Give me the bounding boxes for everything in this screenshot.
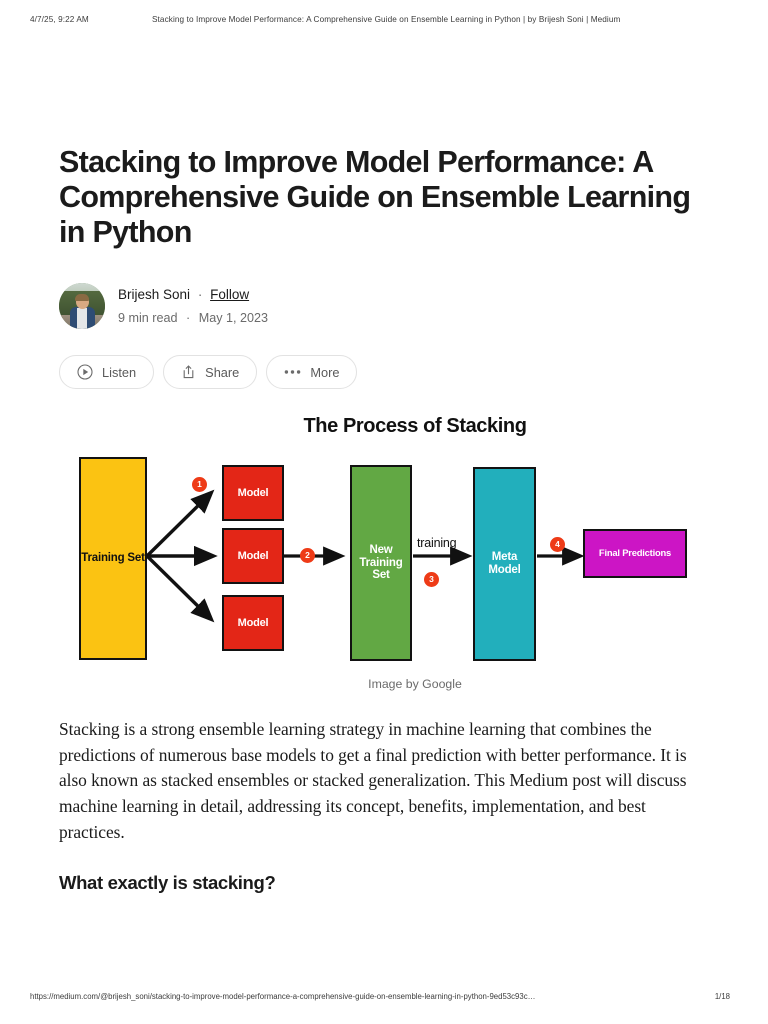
badge-2-label: 2	[305, 551, 310, 560]
badge-2: 2	[300, 548, 315, 563]
badge-3: 3	[424, 572, 439, 587]
node-model-3-label: Model	[238, 617, 269, 629]
print-header-date: 4/7/25, 9:22 AM	[30, 15, 89, 24]
badge-4: 4	[550, 537, 565, 552]
edge-label-training: training	[417, 536, 456, 550]
figure-title: The Process of Stacking	[121, 415, 709, 438]
node-final-predictions: Final Predictions	[583, 529, 687, 578]
stacking-diagram: Training Set Model Model Model New Train…	[59, 449, 709, 667]
byline-separator-2: ·	[186, 311, 190, 325]
page-title: Stacking to Improve Model Performance: A…	[59, 145, 699, 250]
badge-1-label: 1	[197, 480, 202, 489]
read-time: 9 min read	[118, 311, 178, 325]
byline-separator-1: ·	[198, 287, 203, 302]
article-paragraph: Stacking is a strong ensemble learning s…	[59, 717, 704, 846]
listen-button[interactable]: Listen	[59, 355, 154, 389]
avatar-hair	[75, 294, 89, 301]
more-label: More	[310, 365, 339, 380]
byline-author-row: Brijesh Soni · Follow	[118, 285, 268, 305]
share-label: Share	[205, 365, 239, 380]
byline-text: Brijesh Soni · Follow 9 min read · May 1…	[118, 285, 268, 327]
node-meta-model: Meta Model	[473, 467, 536, 661]
more-button[interactable]: More	[266, 355, 357, 389]
node-model-3: Model	[222, 595, 284, 651]
share-upload-icon	[181, 364, 196, 380]
node-new-training-set-label: New Training Set	[352, 544, 410, 583]
ellipsis-icon	[284, 369, 301, 375]
follow-button[interactable]: Follow	[210, 287, 249, 302]
author-name[interactable]: Brijesh Soni	[118, 287, 190, 302]
badge-3-label: 3	[429, 575, 434, 584]
print-header: 4/7/25, 9:22 AM Stacking to Improve Mode…	[0, 15, 768, 31]
node-meta-model-label: Meta Model	[475, 551, 534, 577]
print-footer-page: 1/18	[715, 992, 730, 1001]
badge-4-label: 4	[555, 540, 560, 549]
publish-date: May 1, 2023	[199, 311, 268, 325]
node-model-2-label: Model	[238, 550, 269, 562]
article-figure: The Process of Stacking	[59, 415, 709, 691]
node-model-2: Model	[222, 528, 284, 584]
byline-meta-row: 9 min read · May 1, 2023	[118, 309, 268, 327]
article-container: Stacking to Improve Model Performance: A…	[59, 145, 709, 909]
node-training-set-label: Training Set	[81, 552, 144, 565]
share-button[interactable]: Share	[163, 355, 257, 389]
node-final-predictions-label: Final Predictions	[599, 548, 671, 559]
byline: Brijesh Soni · Follow 9 min read · May 1…	[59, 283, 709, 333]
node-training-set: Training Set	[79, 457, 147, 660]
listen-label: Listen	[102, 365, 136, 380]
action-bar: Listen Share More	[59, 355, 709, 389]
figure-caption: Image by Google	[121, 677, 709, 691]
avatar-shirt	[77, 308, 87, 329]
play-circle-icon	[77, 364, 93, 380]
node-new-training-set: New Training Set	[350, 465, 412, 661]
avatar[interactable]	[59, 283, 105, 329]
print-footer-url: https://medium.com/@brijesh_soni/stackin…	[30, 992, 535, 1001]
print-header-title: Stacking to Improve Model Performance: A…	[152, 15, 620, 24]
node-model-1-label: Model	[238, 487, 269, 499]
article-subheading: What exactly is stacking?	[59, 872, 709, 894]
node-model-1: Model	[222, 465, 284, 521]
print-footer: https://medium.com/@brijesh_soni/stackin…	[0, 992, 768, 1006]
badge-1: 1	[192, 477, 207, 492]
